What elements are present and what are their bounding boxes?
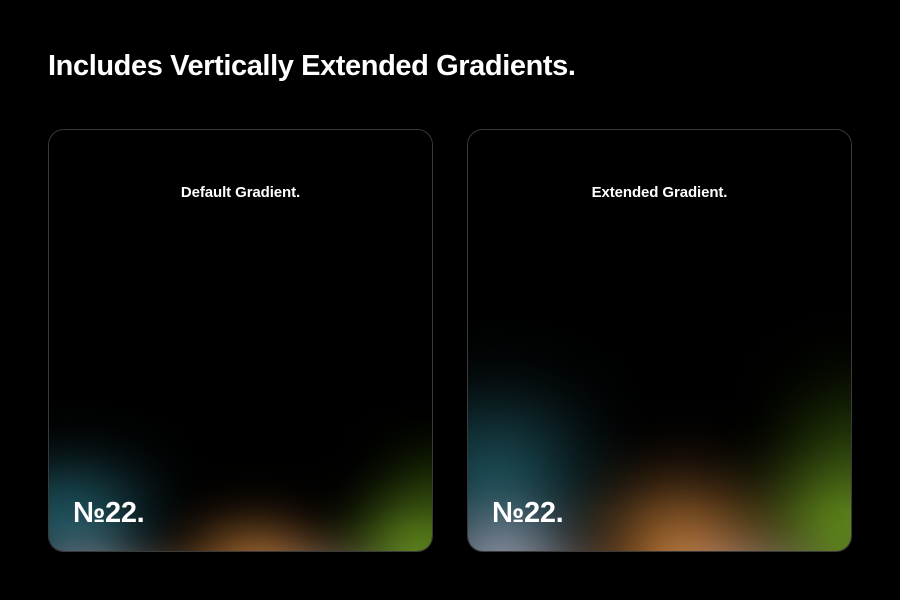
gradient-blob-lilac	[598, 517, 852, 552]
gradient-blob-lilac	[187, 534, 433, 552]
gradient-blob-orange	[522, 399, 844, 552]
default-gradient-number: №22.	[73, 499, 144, 528]
gradient-blob-peach	[491, 551, 660, 552]
gradient-card-row: Default Gradient. №22. Extended Gradient…	[48, 129, 852, 552]
default-gradient-label: Default Gradient.	[49, 184, 432, 201]
gradient-blob-deep-green	[348, 383, 433, 552]
extended-gradient-label: Extended Gradient.	[468, 184, 851, 201]
gradient-blob-green	[286, 433, 433, 552]
gradient-blob-deep-green	[751, 282, 852, 551]
gradient-blob-peach	[80, 551, 241, 552]
page-title: Includes Vertically Extended Gradients.	[48, 50, 576, 83]
default-gradient-card[interactable]: Default Gradient. №22.	[48, 129, 433, 552]
extended-gradient-number: №22.	[492, 499, 563, 528]
gradient-blob-green	[698, 357, 852, 552]
gradient-blob-orange	[110, 467, 401, 552]
extended-gradient-card[interactable]: Extended Gradient. №22.	[467, 129, 852, 552]
